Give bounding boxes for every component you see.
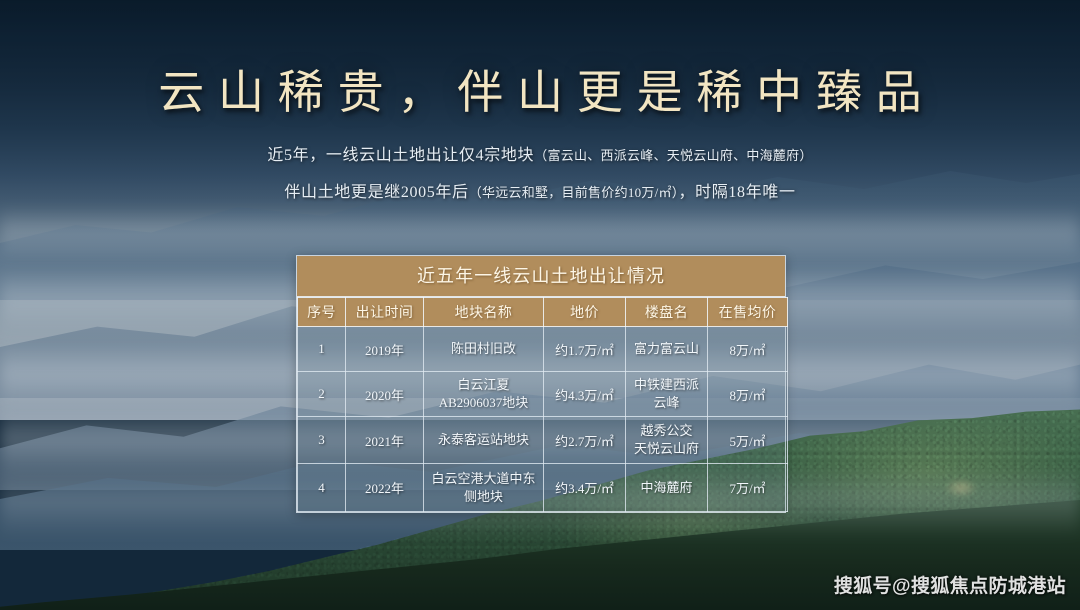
land-transfer-table: 近五年一线云山土地出让情况 序号 出让时间 地块名称 地价 楼盘名 在售均价 1… [296, 255, 786, 513]
table-title: 近五年一线云山土地出让情况 [297, 256, 785, 297]
cell-date: 2019年 [346, 327, 424, 372]
subtitle-1-parenthetical: （富云山、西派云峰、天悦云山府、中海麓府） [534, 148, 812, 163]
cell-avg-price: 5万/㎡ [708, 417, 788, 464]
table-row: 3 2021年 永泰客运站地块 约2.7万/㎡ 越秀公交 天悦云山府 5万/㎡ [298, 417, 788, 464]
cell-parcel: 永泰客运站地块 [424, 417, 544, 464]
cell-project: 越秀公交 天悦云山府 [626, 417, 708, 464]
cell-project-line2: 天悦云山府 [626, 440, 707, 458]
subtitle-2-tail: ，时隔18年唯一 [679, 184, 796, 201]
cell-parcel: 陈田村旧改 [424, 327, 544, 372]
cell-date: 2021年 [346, 417, 424, 464]
cell-project-line1: 富力富云山 [626, 340, 707, 358]
subtitle-line-2: 伴山土地更是继2005年后（华远云和墅，目前售价约10万/㎡），时隔18年唯一 [0, 178, 1080, 202]
cell-date: 2022年 [346, 464, 424, 512]
column-header-parcel: 地块名称 [424, 298, 544, 327]
cell-project: 富力富云山 [626, 327, 708, 372]
cell-parcel-line1: 永泰客运站地块 [424, 431, 543, 449]
cell-land-price: 约4.3万/㎡ [544, 372, 626, 417]
cell-land-price: 约2.7万/㎡ [544, 417, 626, 464]
cell-project-line1: 中铁建西派 [626, 376, 707, 394]
table: 序号 出让时间 地块名称 地价 楼盘名 在售均价 1 2019年 陈田村旧改 约… [297, 297, 788, 512]
cell-project: 中海麓府 [626, 464, 708, 512]
cell-parcel-line1: 白云空港大道中东 [424, 470, 543, 488]
cell-parcel-line1: 陈田村旧改 [424, 340, 543, 358]
cell-avg-price: 8万/㎡ [708, 327, 788, 372]
cell-index: 4 [298, 464, 346, 512]
cell-project: 中铁建西派 云峰 [626, 372, 708, 417]
cell-parcel-line1: 白云江夏 [424, 376, 543, 394]
cell-project-line1: 中海麓府 [626, 479, 707, 497]
table-header-row: 序号 出让时间 地块名称 地价 楼盘名 在售均价 [298, 298, 788, 327]
cell-index: 3 [298, 417, 346, 464]
cell-project-line2: 云峰 [626, 394, 707, 412]
cell-land-price: 约1.7万/㎡ [544, 327, 626, 372]
table-row: 2 2020年 白云江夏 AB2906037地块 约4.3万/㎡ 中铁建西派 云… [298, 372, 788, 417]
watermark: 搜狐号@搜狐焦点防城港站 [834, 571, 1066, 598]
subtitle-2-main: 伴山土地更是继2005年后 [284, 184, 468, 201]
cell-index: 1 [298, 327, 346, 372]
column-header-price: 地价 [544, 298, 626, 327]
top-vignette [0, 0, 1080, 250]
column-header-avg: 在售均价 [708, 298, 788, 327]
cell-land-price: 约3.4万/㎡ [544, 464, 626, 512]
column-header-index: 序号 [298, 298, 346, 327]
watermark-text: 搜狐号@搜狐焦点防城港站 [834, 571, 1066, 598]
column-header-date: 出让时间 [346, 298, 424, 327]
subtitle-line-1: 近5年，一线云山土地出让仅4宗地块（富云山、西派云峰、天悦云山府、中海麓府） [0, 141, 1080, 165]
cell-index: 2 [298, 372, 346, 417]
cell-parcel-line2: 侧地块 [424, 488, 543, 506]
cell-avg-price: 7万/㎡ [708, 464, 788, 512]
cell-parcel-line2: AB2906037地块 [424, 394, 543, 412]
subtitle-2-parenthetical: （华远云和墅，目前售价约10万/㎡） [469, 185, 679, 200]
cell-project-line1: 越秀公交 [626, 422, 707, 440]
cell-parcel: 白云空港大道中东 侧地块 [424, 464, 544, 512]
cell-parcel: 白云江夏 AB2906037地块 [424, 372, 544, 417]
cell-avg-price: 8万/㎡ [708, 372, 788, 417]
page-title: 云山稀贵，伴山更是稀中臻品 [0, 56, 1080, 122]
column-header-project: 楼盘名 [626, 298, 708, 327]
subtitle-1-main: 近5年，一线云山土地出让仅4宗地块 [267, 147, 534, 164]
table-row: 1 2019年 陈田村旧改 约1.7万/㎡ 富力富云山 8万/㎡ [298, 327, 788, 372]
table-row: 4 2022年 白云空港大道中东 侧地块 约3.4万/㎡ 中海麓府 7万/㎡ [298, 464, 788, 512]
cell-date: 2020年 [346, 372, 424, 417]
